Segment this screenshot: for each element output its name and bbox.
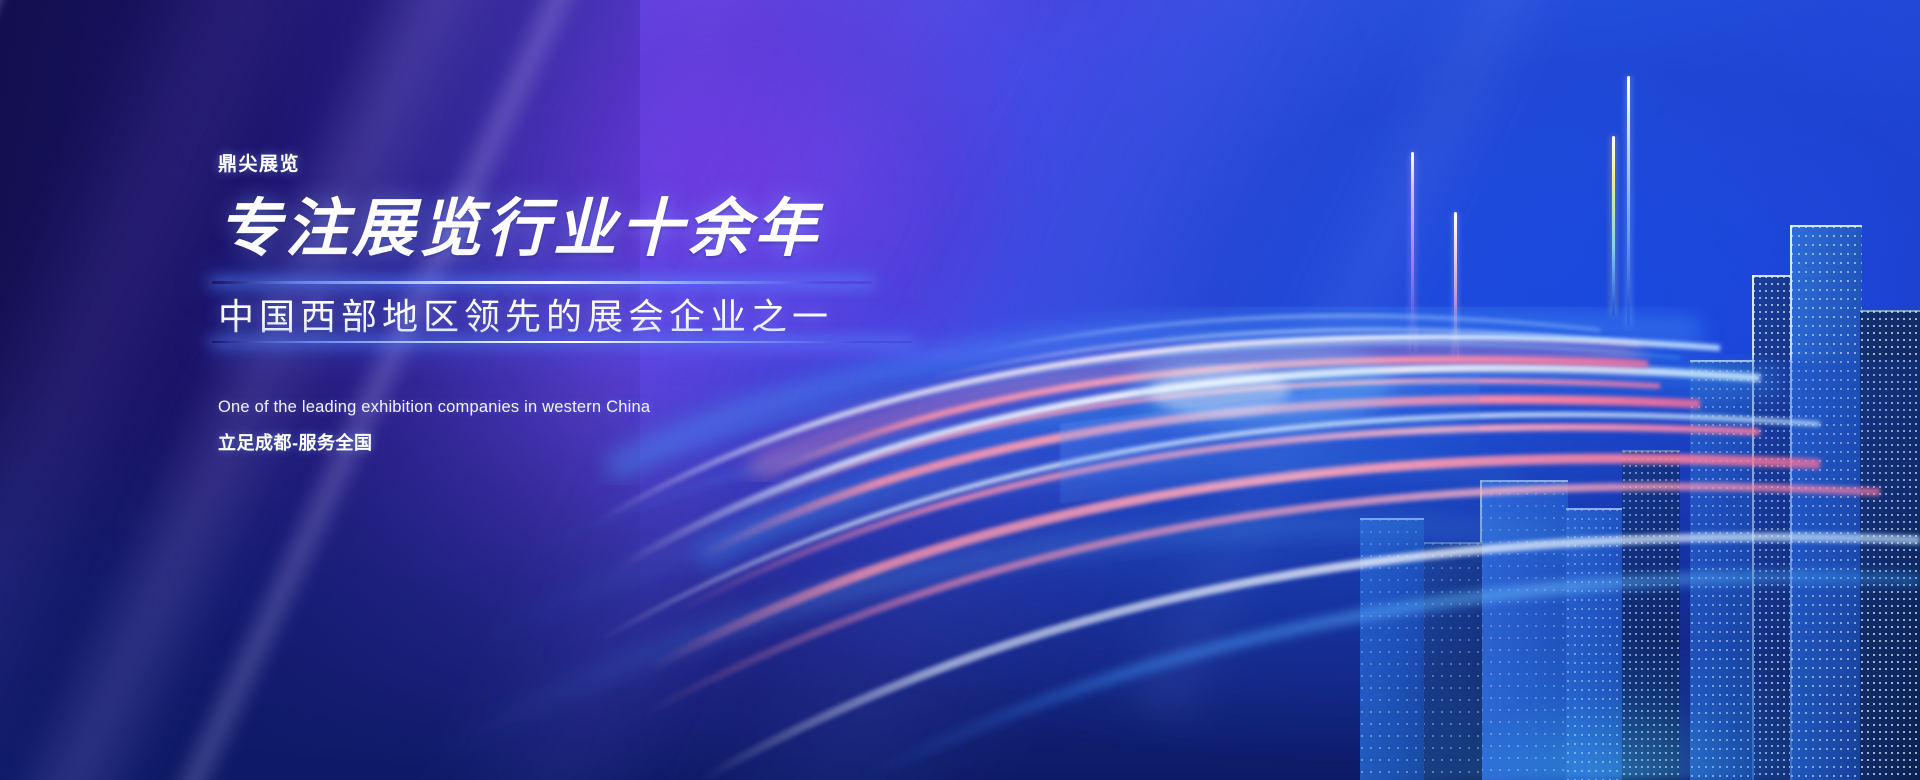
page-title: 专注展览行业十余年 bbox=[218, 196, 938, 262]
beam-violet-icon bbox=[1411, 152, 1414, 352]
beam-rose-icon bbox=[1454, 212, 1457, 362]
beam-cyan-icon bbox=[1627, 76, 1630, 326]
english-tagline: One of the leading exhibition companies … bbox=[218, 398, 650, 417]
hero-banner: 鼎尖展览 专注展览行业十余年 中国西部地区领先的展会企业之一 One of th… bbox=[0, 0, 1920, 780]
hero-text-block: 鼎尖展览 专注展览行业十余年 中国西部地区领先的展会企业之一 One of th… bbox=[218, 0, 978, 780]
city-base-glow bbox=[1360, 580, 1920, 780]
headline-wrap: 专注展览行业十余年 bbox=[218, 196, 938, 262]
subtitle: 中国西部地区领先的展会企业之一 bbox=[218, 288, 833, 340]
city-skyline bbox=[1360, 0, 1920, 780]
chinese-tagline: 立足成都-服务全国 bbox=[218, 429, 373, 455]
brand-name: 鼎尖展览 bbox=[218, 149, 300, 176]
headline-glow-underline bbox=[212, 281, 872, 284]
beam-yellow-icon bbox=[1612, 136, 1615, 316]
subtitle-glow-underline bbox=[212, 341, 912, 343]
